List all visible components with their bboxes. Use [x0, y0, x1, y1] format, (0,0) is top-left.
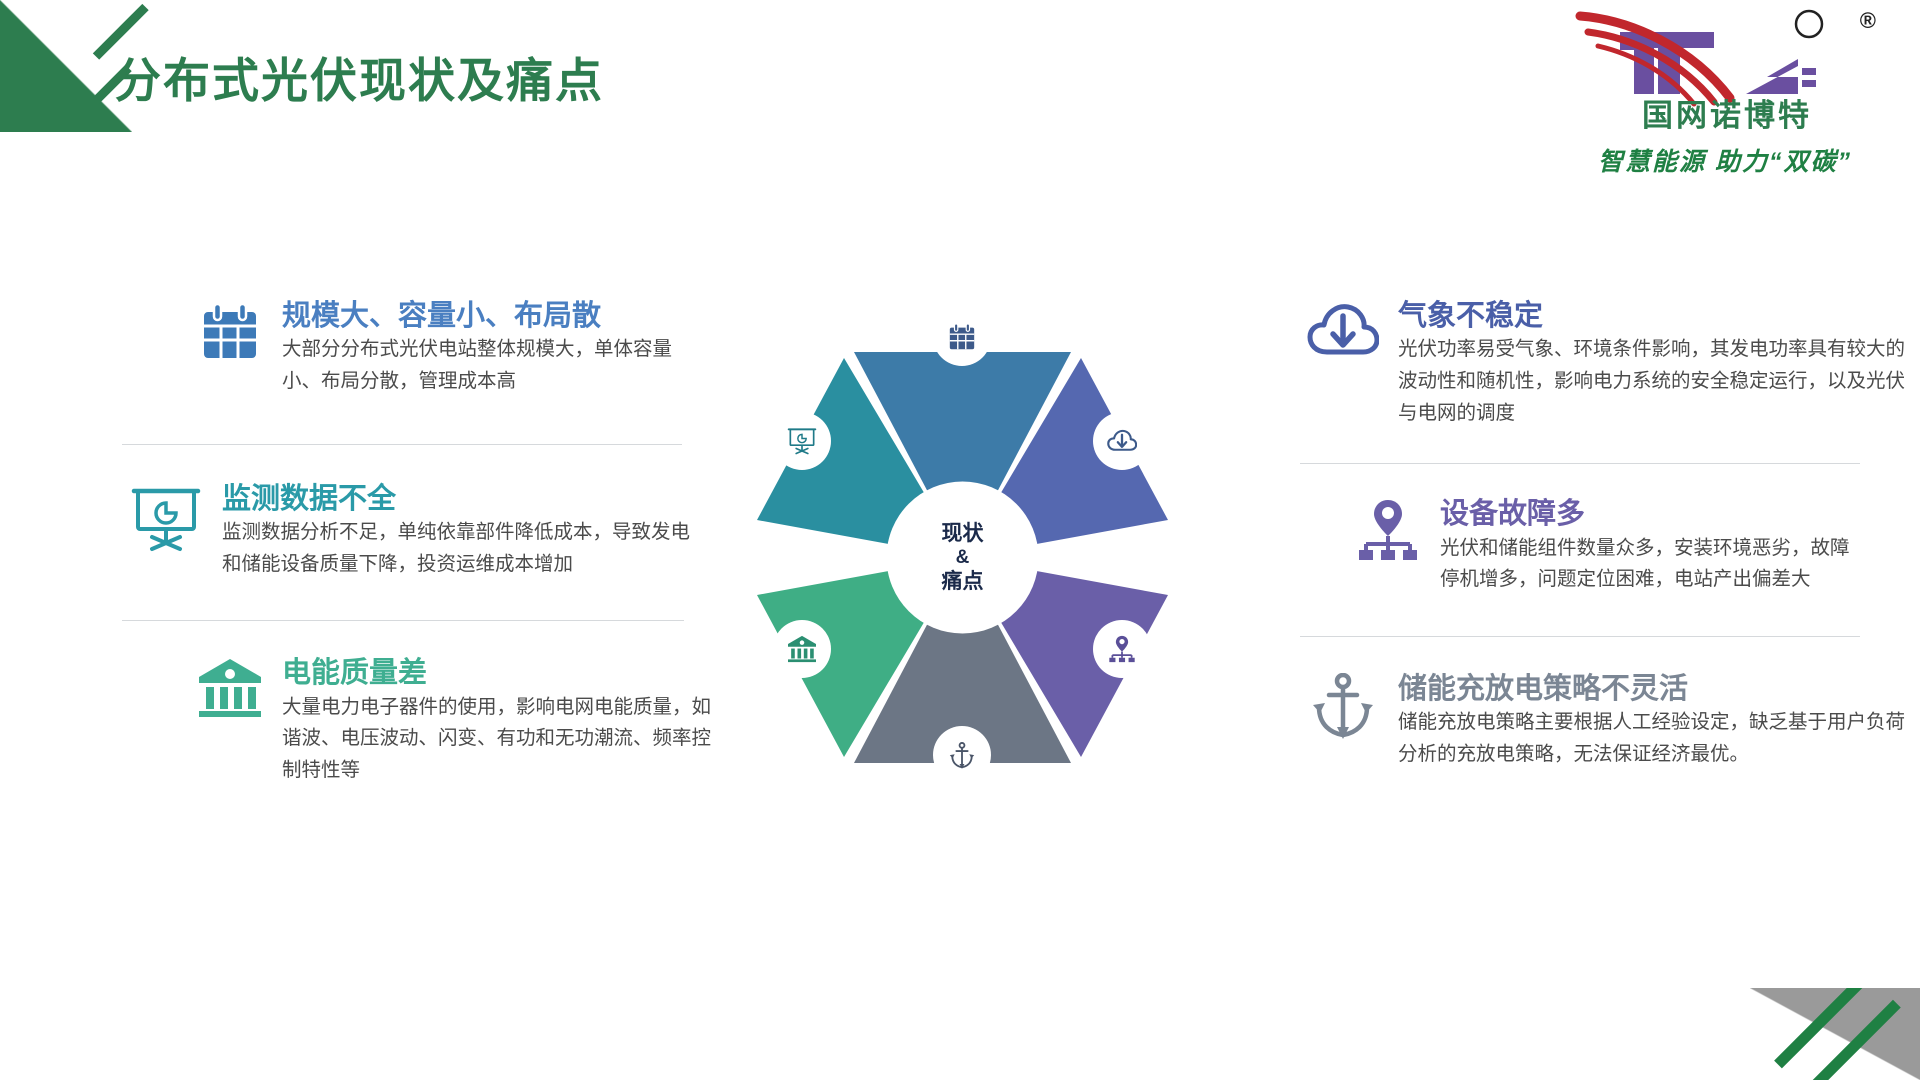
right-column: 气象不稳定 光伏功率易受气象、环境条件影响，其发电功率具有较大的波动性和随机性，…	[1288, 300, 1900, 770]
pain-point-title: 设备故障多	[1440, 498, 1900, 530]
network-node-icon	[1108, 635, 1136, 663]
hexagon-center-line1: 现状	[942, 520, 984, 546]
pain-point-title: 监测数据不全	[222, 483, 722, 515]
section-divider	[1300, 636, 1860, 637]
anchor-icon	[1288, 673, 1398, 739]
hex-badge-network-node[interactable]	[1093, 620, 1151, 678]
hexagon-center-label: 现状 & 痛点	[942, 520, 984, 594]
cloud-download-icon	[1288, 300, 1398, 362]
corner-decoration-top-left	[0, 0, 132, 132]
network-node-icon	[1336, 498, 1440, 562]
pain-point-desc: 光伏和储能组件数量众多，安装环境恶劣，故障停机增多，问题定位困难，电站产出偏差大	[1440, 533, 1858, 596]
registered-trademark-icon: ®	[1860, 8, 1876, 34]
pain-point-title: 电能质量差	[282, 657, 722, 689]
pain-point-desc: 监测数据分析不足，单纯依靠部件降低成本，导致发电和储能设备质量下降，投资运维成本…	[222, 517, 702, 580]
hex-badge-presentation-chart[interactable]	[773, 412, 831, 470]
calendar-icon	[947, 322, 977, 352]
cloud-download-icon	[1107, 428, 1137, 454]
pain-point-title: 规模大、容量小、布局散	[282, 300, 722, 332]
pain-point-item-scale: 规模大、容量小、布局散 大部分分布式光伏电站整体规模大，单体容量小、布局分散，管…	[110, 300, 722, 398]
left-column: 规模大、容量小、布局散 大部分分布式光伏电站整体规模大，单体容量小、布局分散，管…	[110, 300, 722, 786]
pain-point-item-weather: 气象不稳定 光伏功率易受气象、环境条件影响，其发电功率具有较大的波动性和随机性，…	[1288, 300, 1900, 429]
hexagon-wheel-diagram: 现状 & 痛点	[735, 330, 1190, 785]
bank-icon	[787, 635, 817, 663]
pain-point-item-equipment-fault: 设备故障多 光伏和储能组件数量众多，安装环境恶劣，故障停机增多，问题定位困难，电…	[1288, 498, 1900, 596]
brand-tagline: 智慧能源 助力“双碳”	[1562, 142, 1888, 178]
hex-badge-calendar[interactable]	[933, 308, 991, 366]
brand-logo: ® 国网诺博特 智慧能源 助力“双碳”	[1562, 6, 1892, 176]
pain-point-text: 气象不稳定 光伏功率易受气象、环境条件影响，其发电功率具有较大的波动性和随机性，…	[1398, 300, 1918, 429]
pain-point-desc: 光伏功率易受气象、环境条件影响，其发电功率具有较大的波动性和随机性，影响电力系统…	[1398, 334, 1918, 429]
pain-point-desc: 大部分分布式光伏电站整体规模大，单体容量小、布局分散，管理成本高	[282, 334, 710, 397]
brand-name-cn: 国网诺博特	[1562, 90, 1892, 135]
pain-point-text: 监测数据不全 监测数据分析不足，单纯依靠部件降低成本，导致发电和储能设备质量下降…	[222, 483, 722, 581]
section-divider	[122, 620, 684, 621]
pain-point-text: 储能充放电策略不灵活 储能充放电策略主要根据人工经验设定，缺乏基于用户负荷分析的…	[1398, 673, 1910, 771]
hex-badge-anchor[interactable]	[933, 726, 991, 784]
hex-badge-cloud-download[interactable]	[1093, 412, 1151, 470]
pain-point-text: 电能质量差 大量电力电子器件的使用，影响电网电能质量，如谐波、电压波动、闪变、有…	[282, 657, 722, 786]
pain-point-desc: 大量电力电子器件的使用，影响电网电能质量，如谐波、电压波动、闪变、有功和无功潮流…	[282, 692, 720, 787]
section-divider	[122, 444, 682, 445]
pain-point-text: 设备故障多 光伏和储能组件数量众多，安装环境恶劣，故障停机增多，问题定位困难，电…	[1440, 498, 1900, 596]
pain-point-item-storage-strategy: 储能充放电策略不灵活 储能充放电策略主要根据人工经验设定，缺乏基于用户负荷分析的…	[1288, 673, 1900, 771]
pain-point-title: 气象不稳定	[1398, 300, 1918, 332]
pain-point-desc: 储能充放电策略主要根据人工经验设定，缺乏基于用户负荷分析的充放电策略，无法保证经…	[1398, 707, 1910, 770]
pain-point-title: 储能充放电策略不灵活	[1398, 673, 1910, 705]
pain-point-text: 规模大、容量小、布局散 大部分分布式光伏电站整体规模大，单体容量小、布局分散，管…	[282, 300, 722, 398]
corner-decoration-bottom-right	[1750, 988, 1920, 1080]
calendar-icon	[178, 300, 282, 364]
section-divider	[1300, 463, 1860, 464]
presentation-chart-icon	[787, 426, 817, 456]
page-title: 分布式光伏现状及痛点	[114, 42, 604, 111]
hexagon-center-line3: 痛点	[942, 569, 984, 595]
hexagon-center-line2: &	[942, 546, 984, 569]
hex-badge-bank[interactable]	[773, 620, 831, 678]
anchor-icon	[949, 742, 975, 769]
pain-point-item-power-quality: 电能质量差 大量电力电子器件的使用，影响电网电能质量，如谐波、电压波动、闪变、有…	[110, 657, 722, 786]
bank-icon	[178, 657, 282, 719]
pain-point-item-monitoring: 监测数据不全 监测数据分析不足，单纯依靠部件降低成本，导致发电和储能设备质量下降…	[110, 483, 722, 581]
brand-logomark: ® 国网诺博特	[1562, 6, 1892, 124]
presentation-chart-icon	[110, 483, 222, 555]
